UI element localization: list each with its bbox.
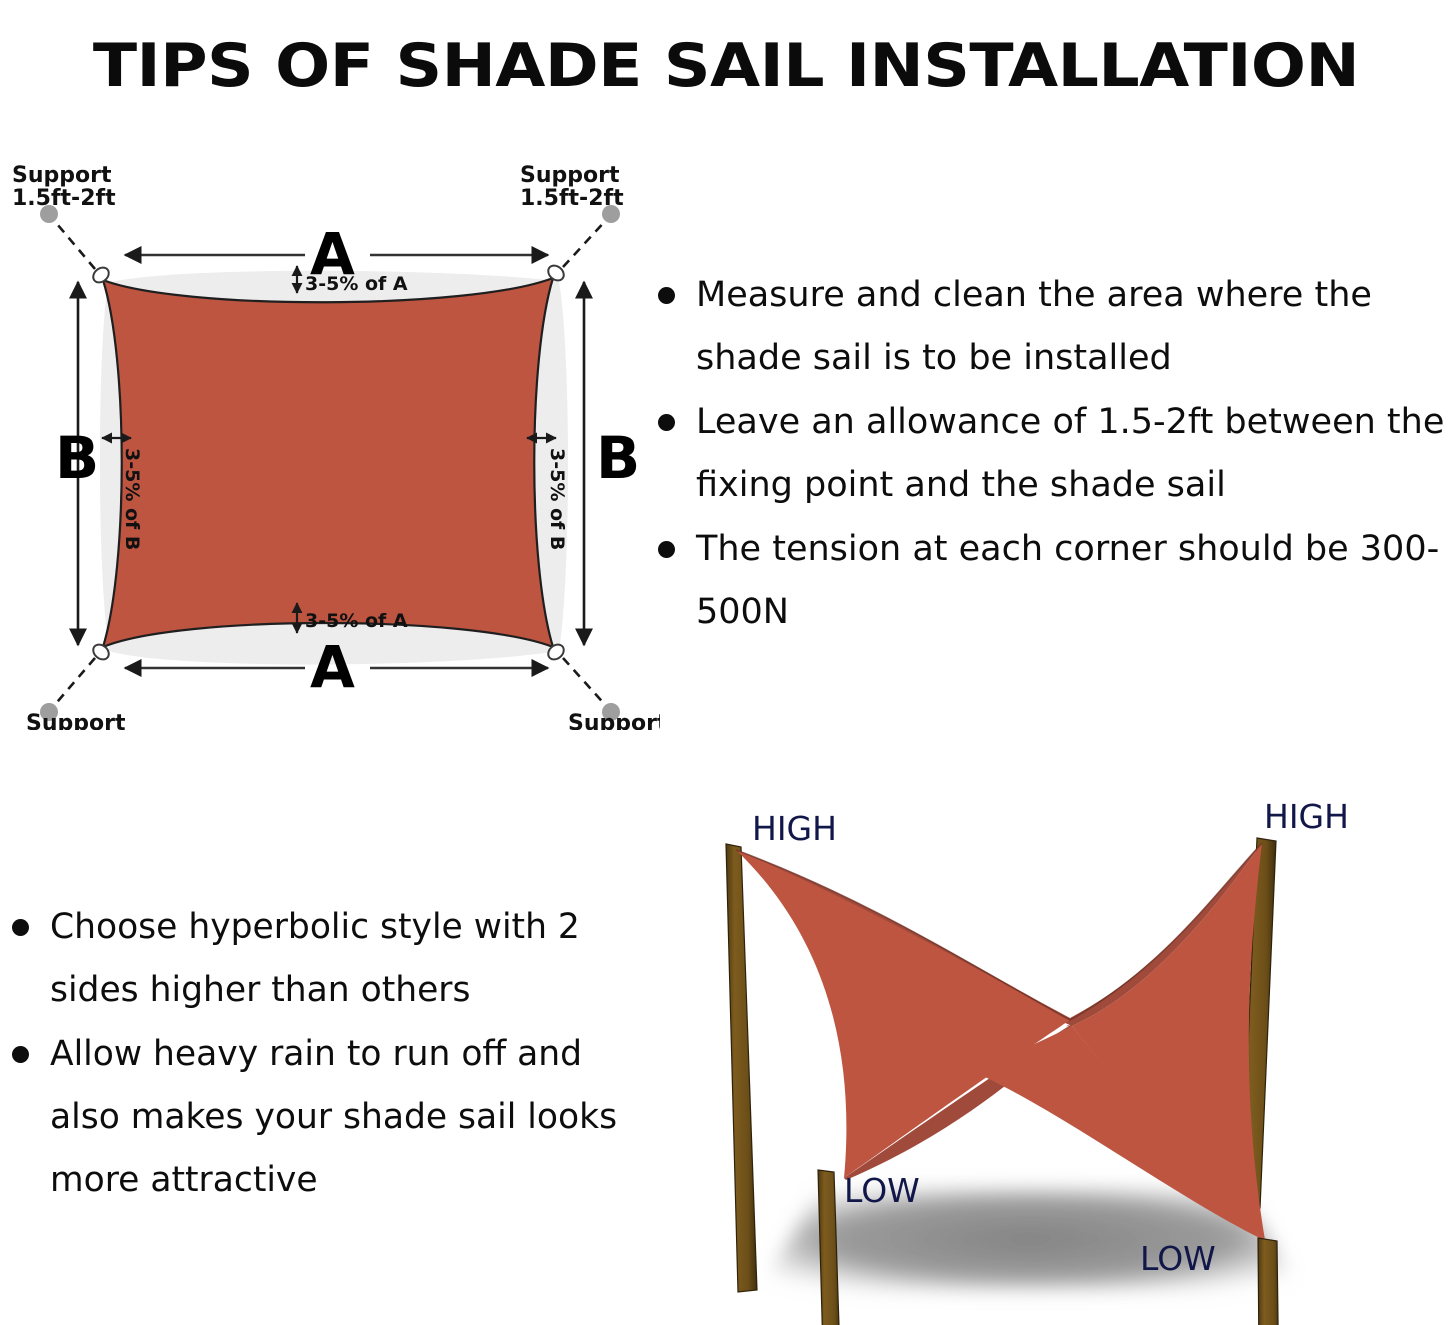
list-item: Leave an allowance of 1.5-2ft between th… (650, 391, 1450, 517)
post-label-low-right: LOW (1140, 1239, 1216, 1278)
hyperbolic-sail-diagram: HIGH HIGH LOW LOW (640, 780, 1452, 1325)
post-rear-left (726, 844, 757, 1292)
curvature-label: 3-5% of A (305, 610, 408, 632)
sail-shape-group (100, 271, 568, 665)
support-tether-line (563, 658, 608, 708)
hyperbolic-tips-list: Choose hyperbolic style with 2 sides hig… (4, 896, 624, 1213)
list-item: Choose hyperbolic style with 2 sides hig… (4, 896, 624, 1022)
support-label-line1: Support (26, 711, 126, 730)
support-label-bottom-right: Support 1.5ft-2ft (568, 711, 660, 730)
post-label-low-left: LOW (844, 1171, 920, 1210)
support-label-line1: Support (568, 711, 660, 730)
support-label-top-right: Support 1.5ft-2ft (520, 163, 624, 211)
sail-fabric-front (736, 850, 1070, 1178)
support-label-line1: Support (12, 163, 112, 188)
sail-fabric (103, 278, 553, 647)
support-tether-line (52, 658, 95, 708)
curvature-label: 3-5% of B (121, 448, 143, 550)
support-tether-line (563, 218, 608, 267)
support-label-bottom-left: Support 1.5ft-2ft (26, 711, 130, 730)
dimension-label-B: B (596, 424, 640, 492)
page-title: TIPS OF SHADE SAIL INSTALLATION (0, 36, 1452, 96)
list-item: Measure and clean the area where the sha… (650, 264, 1450, 390)
support-label-line1: Support (520, 163, 620, 188)
curvature-label: 3-5% of A (305, 273, 408, 295)
dimension-label-B: B (55, 424, 99, 492)
support-label-line2: 1.5ft-2ft (520, 186, 624, 211)
dimension-left-height: B (55, 282, 99, 645)
dimension-label-A: A (310, 633, 355, 701)
post-label-high-right: HIGH (1264, 797, 1349, 836)
support-label-top-left: Support 1.5ft-2ft (12, 163, 116, 211)
post-label-high-left: HIGH (752, 809, 837, 848)
support-tether-line (52, 218, 95, 269)
post-front-right (1258, 1238, 1280, 1325)
rectangular-sail-diagram: Support 1.5ft-2ft Support 1.5ft-2ft Supp… (0, 160, 660, 730)
dimension-right-height: B (584, 282, 640, 645)
installation-tips-list: Measure and clean the area where the sha… (650, 264, 1450, 645)
list-item: Allow heavy rain to run off and also mak… (4, 1023, 624, 1212)
curvature-label: 3-5% of B (546, 448, 568, 550)
list-item: The tension at each corner should be 300… (650, 518, 1450, 644)
support-label-line2: 1.5ft-2ft (12, 186, 116, 211)
